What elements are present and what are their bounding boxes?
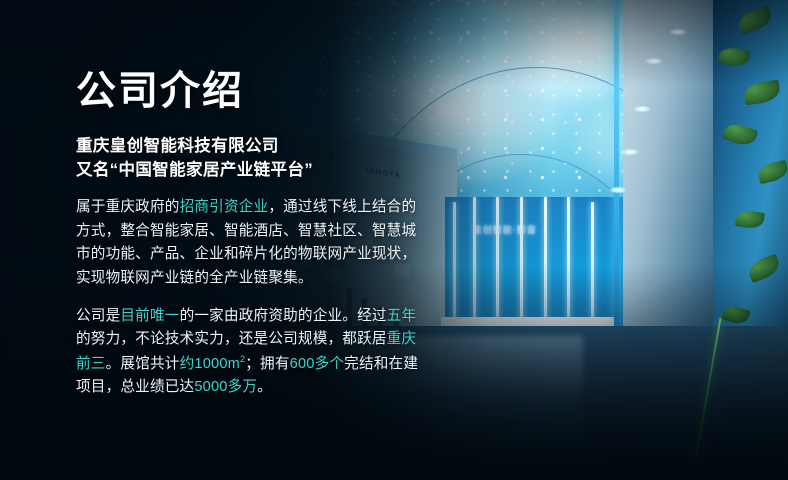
- text-content-block: 公司介绍 重庆皇创智能科技有限公司 又名“中国智能家居产业链平台” 属于重庆政府…: [76, 70, 428, 414]
- slide-root: PARADOX IDOOYA IDOOYA 皇创智能·影音: [0, 0, 788, 480]
- p1-highlight-investment: 招商引资企业: [180, 199, 269, 215]
- company-subtitle: 重庆皇创智能科技有限公司 又名“中国智能家居产业链平台”: [76, 135, 428, 182]
- p2-text-a: 公司是: [76, 308, 120, 324]
- p2-highlight-five-years: 五年: [387, 308, 417, 324]
- p2-area-value: 约1000m: [180, 356, 240, 372]
- company-name-line: 重庆皇创智能科技有限公司: [76, 135, 428, 158]
- p2-highlight-revenue: 5000多万: [194, 379, 257, 395]
- p2-text-e: ；拥有: [245, 356, 289, 372]
- p2-highlight-only-one: 目前唯一: [120, 308, 179, 324]
- p2-highlight-project-count: 600多个: [290, 356, 345, 372]
- p2-text-d: 。展馆共计: [106, 356, 180, 372]
- p2-highlight-area: 约1000m2: [180, 356, 246, 372]
- paragraph-two: 公司是目前唯一的一家由政府资助的企业。经过五年的努力，不论技术实力，还是公司规模…: [76, 305, 428, 400]
- p2-text-g: 。: [257, 379, 272, 395]
- p2-text-c: 的努力，不论技术实力，还是公司规模，都跃居: [76, 331, 387, 347]
- p1-text-a: 属于重庆政府的: [76, 199, 180, 215]
- p2-text-b: 的一家由政府资助的企业。经过: [180, 308, 387, 324]
- page-title: 公司介绍: [76, 70, 428, 113]
- paragraph-one: 属于重庆政府的招商引资企业，通过线下线上结合的方式，整合智能家居、智能酒店、智慧…: [76, 196, 428, 291]
- company-alias-line: 又名“中国智能家居产业链平台”: [76, 159, 428, 182]
